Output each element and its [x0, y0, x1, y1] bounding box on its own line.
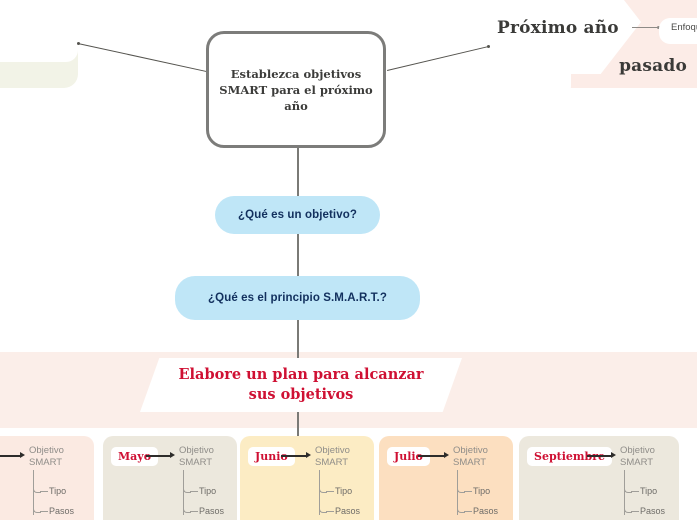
sub-label-tipo-julio: Tipo — [473, 486, 490, 496]
tree-branch-tipo-mayo — [190, 491, 198, 492]
month-arrow-head-julio — [444, 452, 449, 458]
goal-title-septiembre: Objetivo SMART — [620, 445, 655, 468]
connector-banner-to-cards — [297, 412, 299, 436]
node-card-proximo-ano-label: Próximo año — [497, 18, 619, 38]
central-node-label: Establezca objetivos SMART para el próxi… — [209, 66, 383, 114]
connector-left-to-center — [78, 43, 208, 72]
month-arrow-head-mayo — [170, 452, 175, 458]
sub-label-tipo-mayo: Tipo — [199, 486, 216, 496]
central-node[interactable]: Establezca objetivos SMART para el próxi… — [206, 31, 386, 148]
sub-label-pasos-julio: Pasos — [473, 506, 498, 516]
connector-enfoque — [632, 27, 660, 28]
mindmap-canvas: pasado Próximo año Enfoqu Establezca obj… — [0, 0, 697, 520]
node-pill-enfoque[interactable]: Enfoqu — [659, 18, 697, 44]
month-arrow-septiembre — [587, 455, 611, 457]
node-card-proximo-ano-tail — [486, 74, 571, 96]
sub-label-tipo-junio: Tipo — [335, 486, 352, 496]
month-arrow-partial — [0, 455, 20, 457]
month-arrow-junio — [281, 455, 306, 457]
goal-title-mayo: Objetivo SMART — [179, 445, 214, 468]
tree-branch-tipo-partial — [40, 491, 48, 492]
month-arrow-head-septiembre — [611, 452, 616, 458]
tree-branch-tipo-junio — [326, 491, 334, 492]
sub-label-pasos-septiembre: Pasos — [640, 506, 665, 516]
month-arrow-julio — [418, 455, 444, 457]
plan-banner[interactable]: Elabore un plan para alcanzar sus objeti… — [140, 358, 462, 412]
sub-label-pasos-partial: Pasos — [49, 506, 74, 516]
month-arrow-head-partial — [20, 452, 25, 458]
sub-label-tipo-septiembre: Tipo — [640, 486, 657, 496]
tree-branch-pasos-julio — [464, 511, 472, 512]
tree-branch-tipo-julio — [464, 491, 472, 492]
connector-pill2-to-banner — [297, 320, 299, 359]
question-pill-objetivo[interactable]: ¿Qué es un objetivo? — [215, 196, 380, 234]
goal-title-junio: Objetivo SMART — [315, 445, 350, 468]
tree-branch-pasos-partial — [40, 511, 48, 512]
connector-pill1-to-pill2 — [297, 234, 299, 277]
node-card-pasado-label: pasado — [619, 56, 687, 76]
node-card-pasado[interactable] — [0, 0, 78, 62]
sub-label-pasos-mayo: Pasos — [199, 506, 224, 516]
tree-branch-pasos-junio — [326, 511, 334, 512]
connector-right-dot — [487, 45, 490, 48]
month-arrow-head-junio — [306, 452, 311, 458]
month-arrow-mayo — [146, 455, 170, 457]
question-pill-smart[interactable]: ¿Qué es el principio S.M.A.R.T.? — [175, 276, 420, 320]
plan-banner-label: Elabore un plan para alcanzar sus objeti… — [166, 365, 436, 405]
connector-left-dot — [77, 42, 80, 45]
sub-label-tipo-partial: Tipo — [49, 486, 66, 496]
tree-branch-tipo-septiembre — [631, 491, 639, 492]
tree-branch-pasos-mayo — [190, 511, 198, 512]
goal-title-partial: Objetivo SMART — [29, 445, 64, 468]
connector-center-to-right — [387, 46, 488, 71]
tree-branch-pasos-septiembre — [631, 511, 639, 512]
connector-center-to-pill1 — [297, 148, 299, 197]
goal-title-julio: Objetivo SMART — [453, 445, 488, 468]
sub-label-pasos-junio: Pasos — [335, 506, 360, 516]
